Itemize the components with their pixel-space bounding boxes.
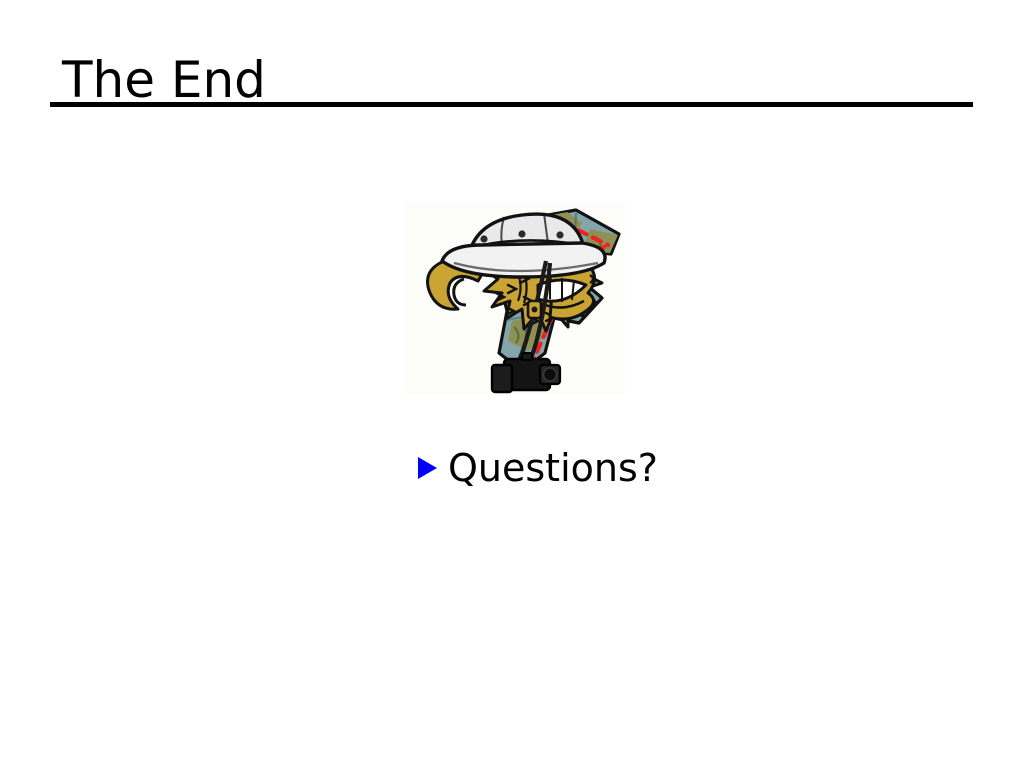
page-title: The End: [62, 52, 266, 108]
slide-root: The End: [0, 0, 1024, 768]
triangle-right-icon: [418, 457, 437, 479]
bullet-label: Questions?: [448, 446, 658, 490]
mascot-image: [404, 201, 625, 395]
title-underline-rule: [50, 102, 973, 107]
list-item: Questions?: [418, 446, 658, 490]
